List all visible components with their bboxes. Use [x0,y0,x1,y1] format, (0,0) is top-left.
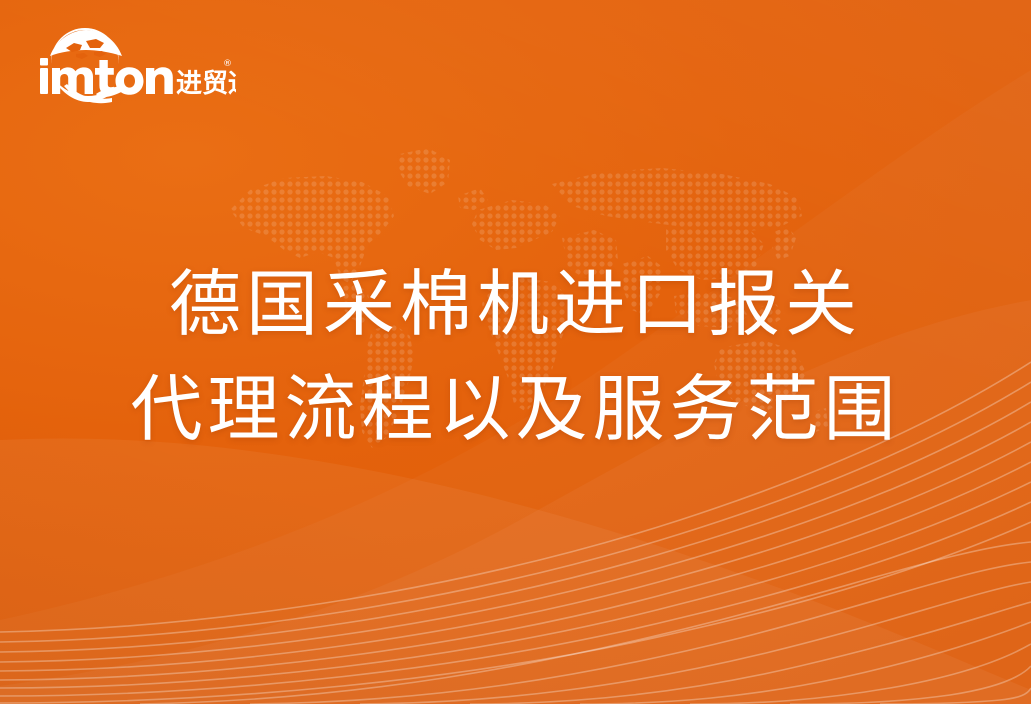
banner-headline: 德国采棉机进口报关 代理流程以及服务范围 [0,252,1031,462]
logo-wordmark [40,58,173,95]
headline-line-2: 代理流程以及服务范围 [0,357,1031,462]
imton-logo[interactable]: 进贸通 ® [36,26,236,106]
logo-chinese-name: 进贸通 [176,69,236,99]
trademark-icon: ® [223,59,232,69]
promo-banner: 进贸通 ® 德国采棉机进口报关 代理流程以及服务范围 [0,0,1031,704]
headline-line-1: 德国采棉机进口报关 [0,252,1031,357]
